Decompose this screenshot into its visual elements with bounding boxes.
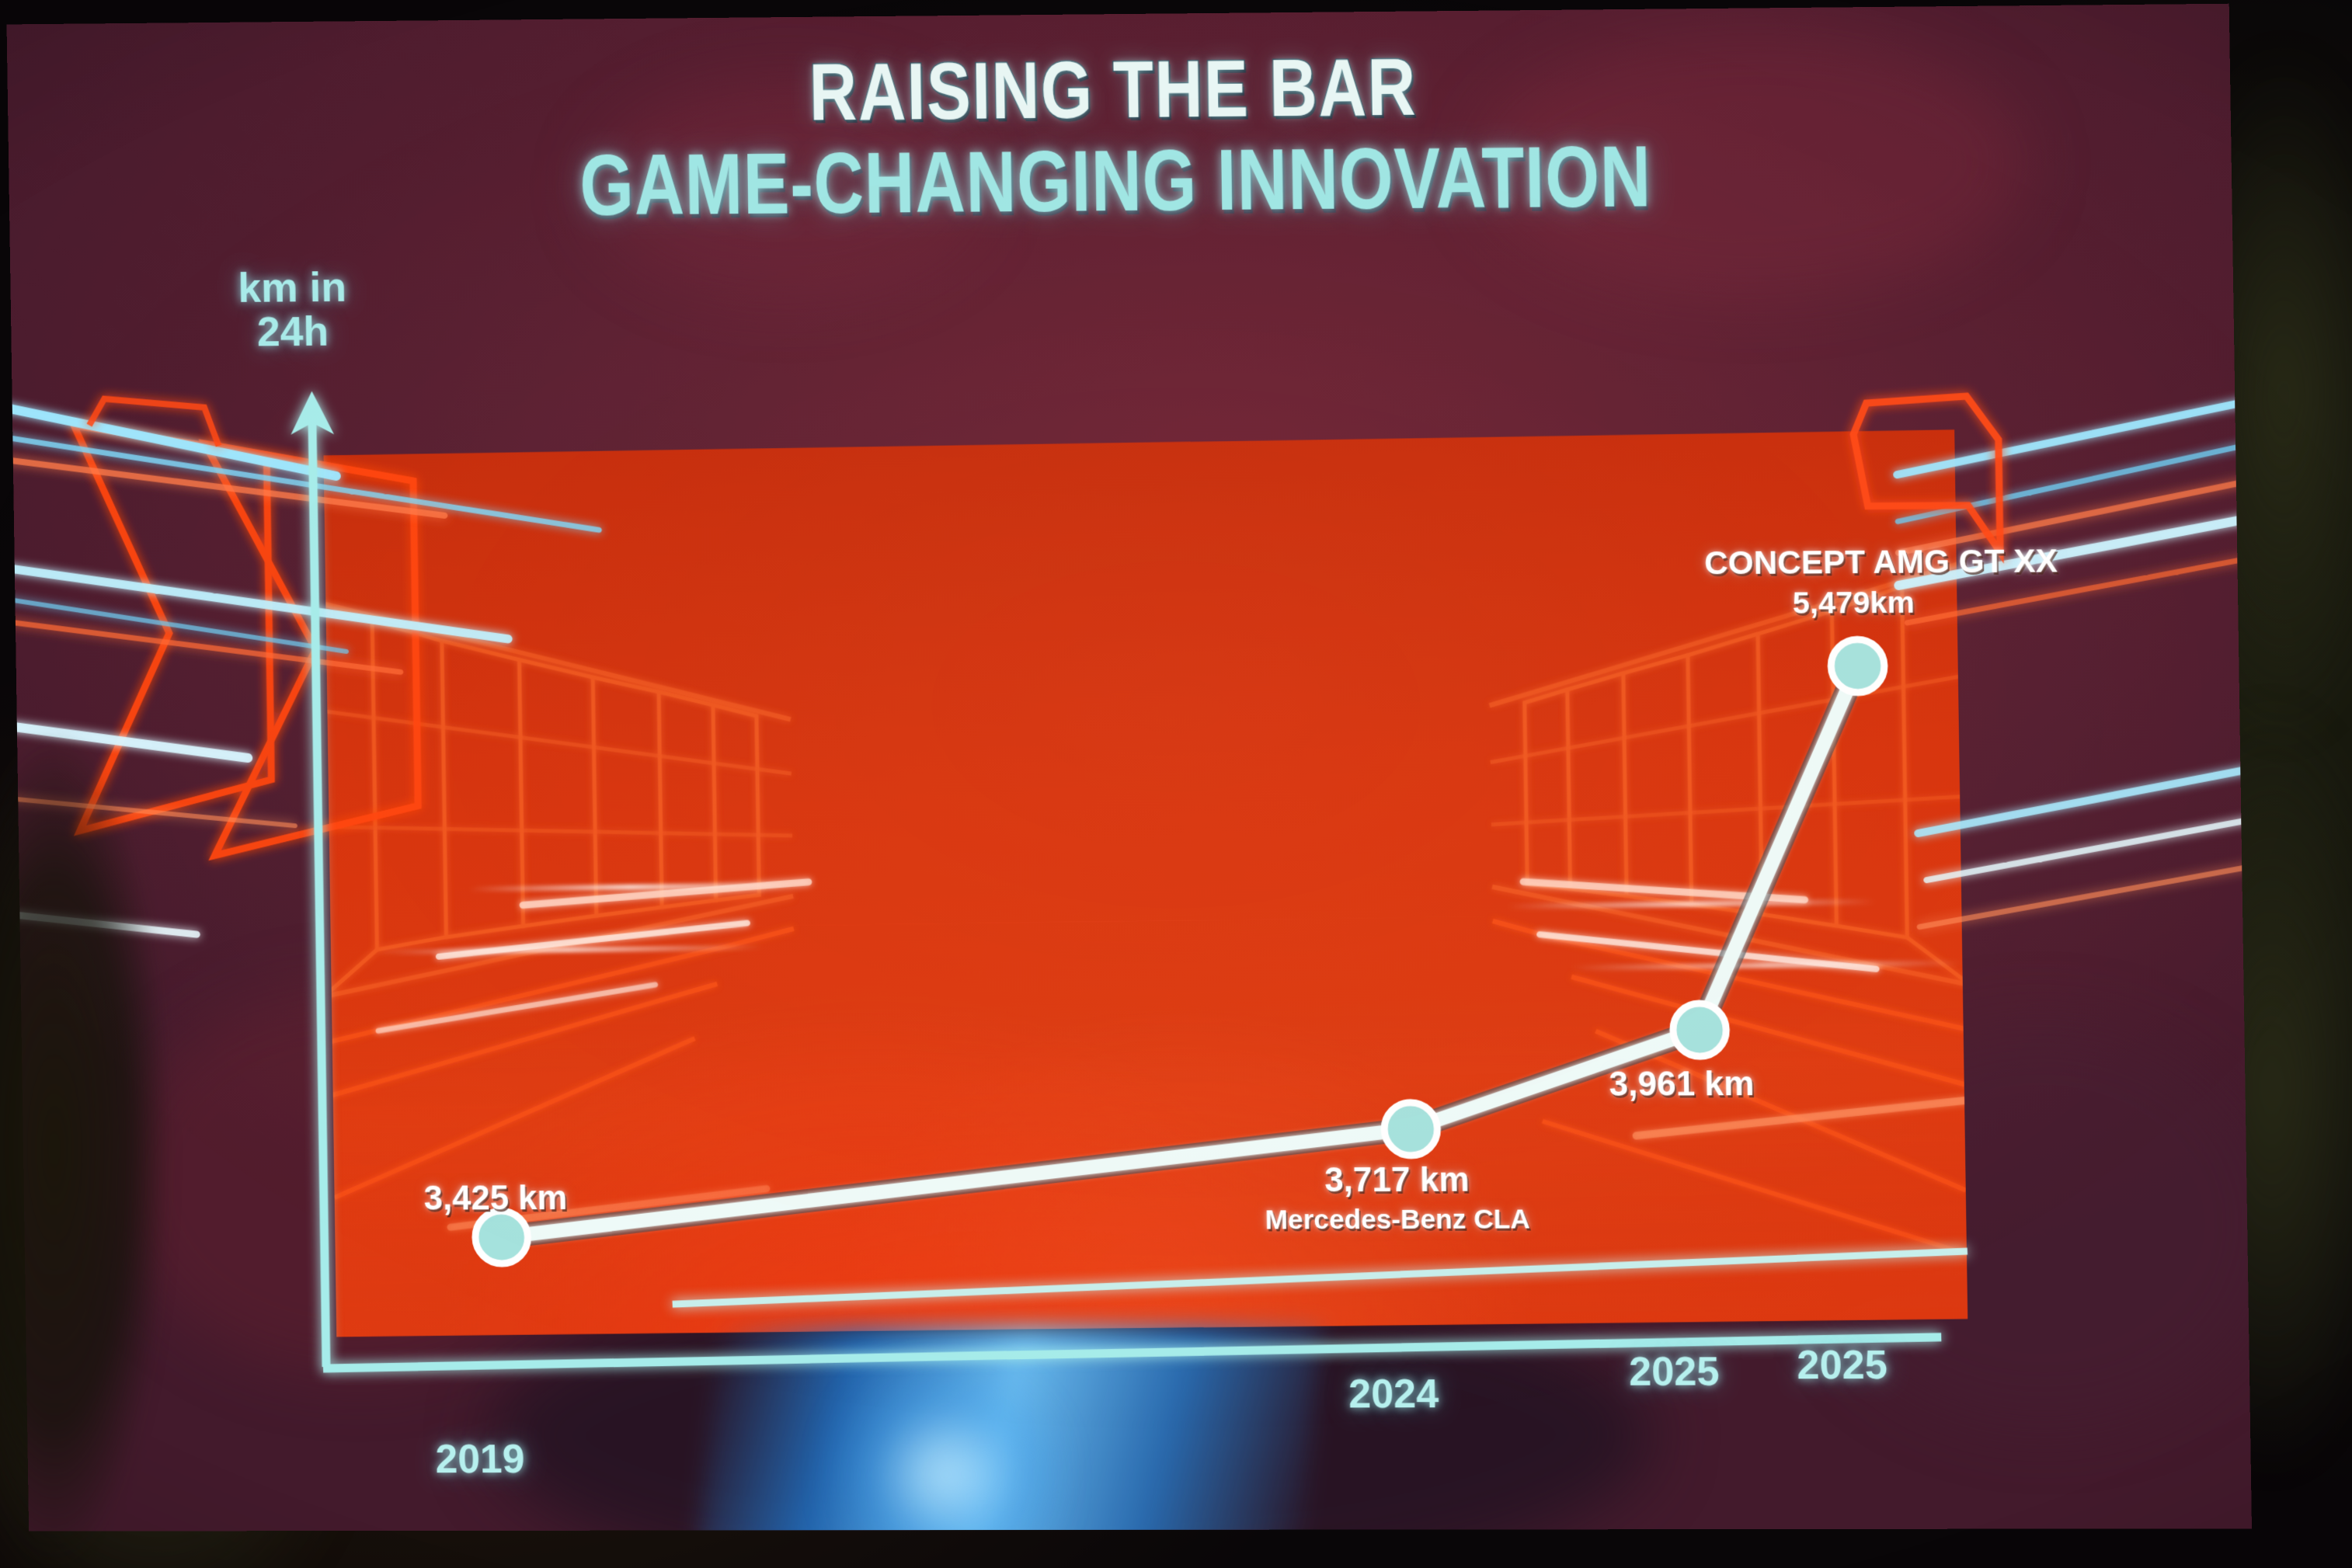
series-polyline	[493, 666, 1867, 1238]
photograph-of-projected-slide: RAISING THE BAR GAME-CHANGING INNOVATION…	[0, 0, 2352, 1568]
series-markers	[467, 639, 1894, 1264]
data-marker-2025-a	[1672, 1003, 1726, 1056]
projection-screen: RAISING THE BAR GAME-CHANGING INNOVATION…	[7, 4, 2252, 1531]
data-marker-2019	[475, 1211, 528, 1264]
data-marker-2025-b	[1831, 639, 1885, 693]
data-marker-2024	[1384, 1103, 1438, 1156]
data-series-line	[7, 4, 2252, 1531]
